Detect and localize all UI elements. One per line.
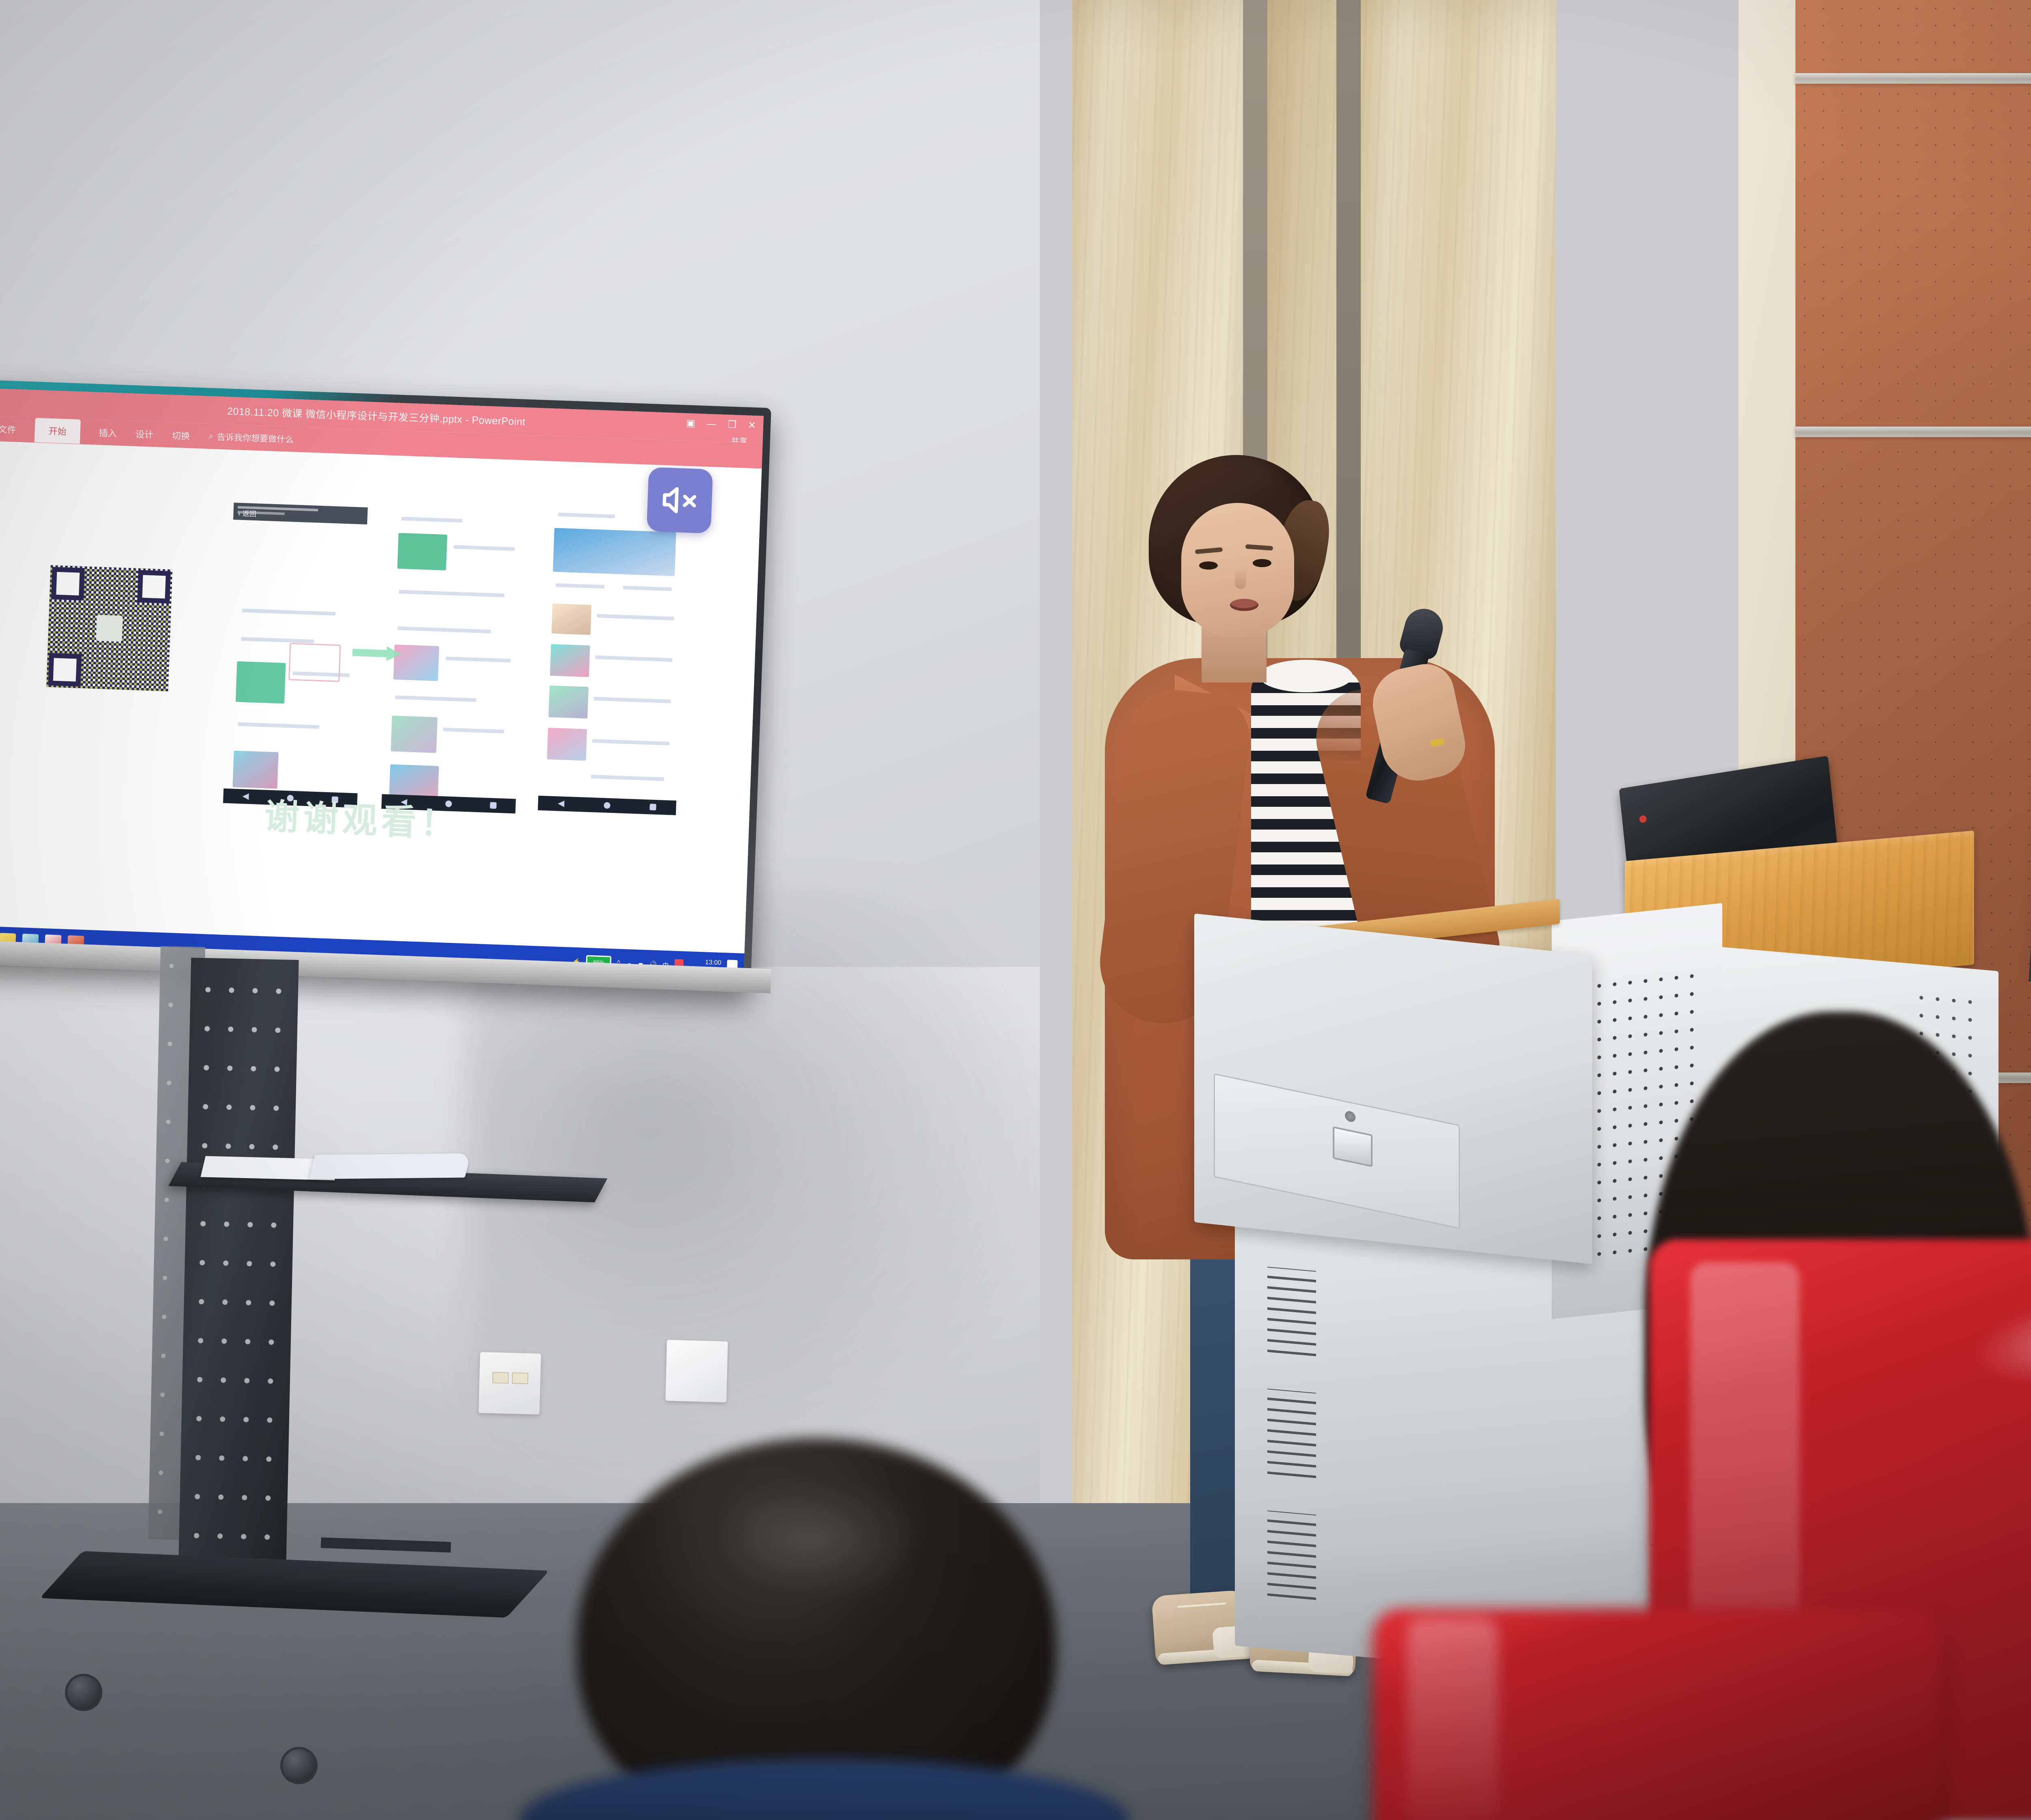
- blank-switch-plate[interactable]: [665, 1340, 728, 1402]
- audience-seat-3[interactable]: [1373, 1609, 1942, 1820]
- phone-screenshot-2: [381, 504, 526, 813]
- ribbon-tab-transitions[interactable]: 切换: [172, 429, 190, 442]
- papers-on-shelf: [203, 1146, 488, 1185]
- caster-wheel-right: [280, 1747, 318, 1784]
- window-controls[interactable]: ▣ — ❐ ✕: [686, 417, 756, 431]
- data-outlet-plate[interactable]: [479, 1352, 541, 1415]
- document-title: 2018.11.20 微课 微信小程序设计与开发三分钟.pptx - Power…: [227, 403, 526, 429]
- tv-stand-post: [178, 958, 299, 1565]
- ribbon-tab-file[interactable]: 文件: [0, 422, 16, 436]
- drawer-pull-handle[interactable]: [1333, 1126, 1373, 1167]
- pink-outline-box: [288, 643, 341, 682]
- qr-code: [46, 565, 173, 691]
- slide-canvas[interactable]: ‹ 返回: [0, 441, 762, 953]
- ribbon-options-icon[interactable]: ▣: [686, 417, 695, 429]
- drawer-lock-icon[interactable]: [1345, 1110, 1355, 1123]
- close-icon[interactable]: ✕: [748, 419, 756, 431]
- thank-you-text: 谢谢观看！: [264, 788, 461, 847]
- powerpoint-window[interactable]: 2018.11.20 微课 微信小程序设计与开发三分钟.pptx - Power…: [0, 388, 764, 982]
- ribbon-tab-design[interactable]: 设计: [135, 427, 154, 441]
- ribbon-tab-insert[interactable]: 插入: [99, 426, 117, 440]
- ring: [1430, 738, 1445, 747]
- clock-time: 13:00: [705, 959, 721, 967]
- presenter-face: [1181, 503, 1294, 637]
- scene-root: 2018.11.20 微课 微信小程序设计与开发三分钟.pptx - Power…: [0, 0, 2031, 1820]
- speaker-mute-icon[interactable]: [647, 467, 713, 534]
- tell-me-search[interactable]: ⌕ 告诉我你想要做什么: [208, 430, 294, 445]
- ribbon-tab-home[interactable]: 开始: [35, 418, 81, 444]
- minimize-icon[interactable]: —: [706, 418, 717, 430]
- lectern-drawer[interactable]: [1214, 1073, 1460, 1229]
- caster-wheel-left: [65, 1674, 102, 1711]
- search-icon: ⌕: [208, 431, 214, 441]
- tell-me-label: 告诉我你想要做什么: [217, 431, 294, 446]
- lectern-front-panel: [1194, 913, 1592, 1264]
- phone-screenshot-3: [538, 502, 687, 815]
- wall-display[interactable]: 2018.11.20 微课 微信小程序设计与开发三分钟.pptx - Power…: [0, 380, 771, 992]
- restore-icon[interactable]: ❐: [728, 419, 737, 431]
